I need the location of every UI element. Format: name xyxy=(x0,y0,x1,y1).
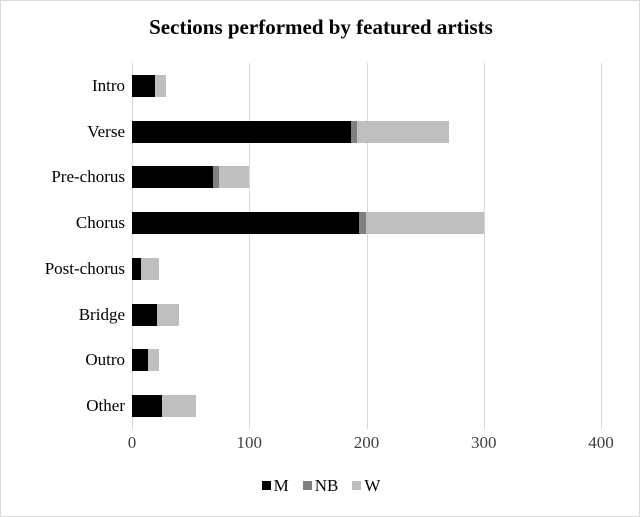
bar-segment-m xyxy=(132,166,213,188)
legend-swatch-icon xyxy=(262,481,271,490)
bar-segment-m xyxy=(132,349,148,371)
bar-segment-w xyxy=(157,304,179,326)
legend-item-nb[interactable]: NB xyxy=(303,477,339,494)
legend-item-m[interactable]: M xyxy=(262,477,289,494)
chart-title: Sections performed by featured artists xyxy=(1,15,640,40)
plot-area xyxy=(132,63,601,429)
bar-segment-nb xyxy=(359,212,366,234)
bar-row xyxy=(132,212,484,234)
legend-label: M xyxy=(274,477,289,494)
y-axis-label-post-chorus: Post-chorus xyxy=(1,258,125,280)
legend-swatch-icon xyxy=(303,481,312,490)
bar-segment-w xyxy=(357,121,448,143)
x-tick-label-0: 0 xyxy=(128,433,137,453)
bar-segment-w xyxy=(219,166,249,188)
chart-legend: MNBW xyxy=(1,477,640,494)
gridline-400 xyxy=(601,63,602,429)
bar-row xyxy=(132,75,166,97)
y-axis-label-other: Other xyxy=(1,395,125,417)
x-tick-label-300: 300 xyxy=(471,433,497,453)
bar-segment-w xyxy=(141,258,159,280)
bar-segment-m xyxy=(132,75,155,97)
y-axis-label-outro: Outro xyxy=(1,349,125,371)
bar-series-group xyxy=(132,63,601,429)
y-axis-label-chorus: Chorus xyxy=(1,212,125,234)
bar-segment-m xyxy=(132,395,162,417)
legend-item-w[interactable]: W xyxy=(352,477,380,494)
bar-row xyxy=(132,166,249,188)
bar-row xyxy=(132,304,179,326)
y-axis-label-bridge: Bridge xyxy=(1,304,125,326)
bar-row xyxy=(132,258,159,280)
legend-label: NB xyxy=(315,477,339,494)
bar-row xyxy=(132,349,159,371)
x-axis-tick-labels: 0100200300400 xyxy=(1,433,640,457)
legend-swatch-icon xyxy=(352,481,361,490)
chart-container: Sections performed by featured artists I… xyxy=(0,0,640,517)
x-tick-label-100: 100 xyxy=(237,433,263,453)
bar-segment-m xyxy=(132,304,157,326)
y-axis-label-intro: Intro xyxy=(1,75,125,97)
bar-segment-w xyxy=(148,349,159,371)
bar-row xyxy=(132,395,196,417)
y-axis-label-verse: Verse xyxy=(1,121,125,143)
y-axis-category-labels: IntroVersePre-chorusChorusPost-chorusBri… xyxy=(1,63,125,429)
legend-label: W xyxy=(364,477,380,494)
bar-segment-m xyxy=(132,258,141,280)
bar-segment-m xyxy=(132,212,359,234)
bar-segment-w xyxy=(155,75,166,97)
bar-segment-m xyxy=(132,121,351,143)
bar-segment-w xyxy=(366,212,483,234)
y-axis-label-pre-chorus: Pre-chorus xyxy=(1,166,125,188)
x-tick-label-400: 400 xyxy=(588,433,614,453)
bar-segment-w xyxy=(162,395,196,417)
bar-row xyxy=(132,121,449,143)
x-tick-label-200: 200 xyxy=(354,433,380,453)
